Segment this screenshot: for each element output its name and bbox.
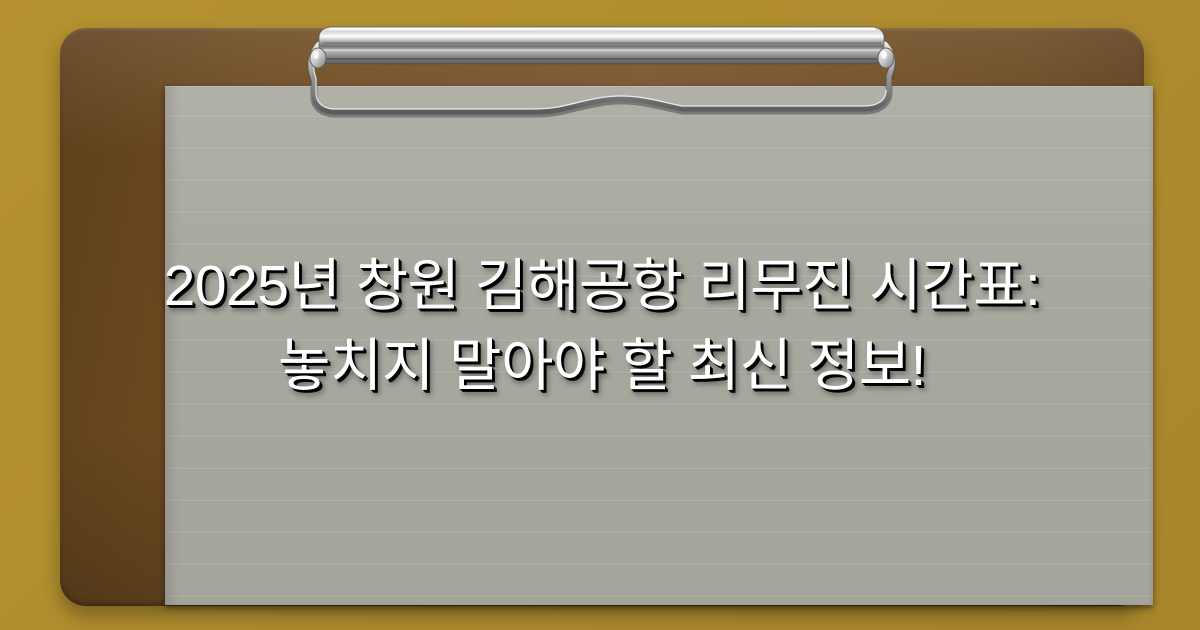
title-line-1: 2025년 창원 김해공항 리무진 시간표: (60, 246, 1144, 326)
page-title: 2025년 창원 김해공항 리무진 시간표: 놓치지 말아야 할 최신 정보! (60, 246, 1144, 406)
title-line-2: 놓치지 말아야 할 최신 정보! (60, 326, 1144, 406)
poster-canvas: 2025년 창원 김해공항 리무진 시간표: 놓치지 말아야 할 최신 정보! (0, 0, 1200, 630)
